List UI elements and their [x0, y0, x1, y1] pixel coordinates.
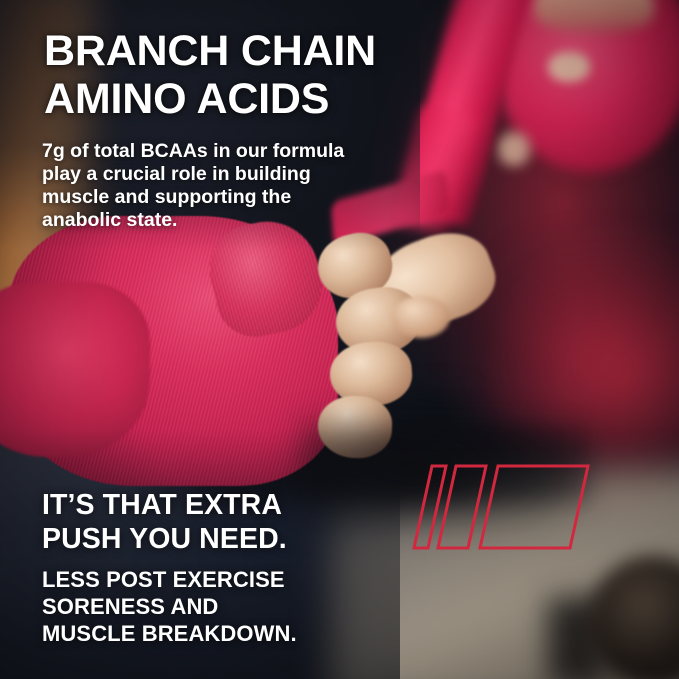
body-copy-line-1: 7g of total BCAAs in our formula [42, 140, 344, 163]
benefit-line-3: MUSCLE BREAKDOWN. [42, 620, 297, 647]
tagline: IT’S THAT EXTRA PUSH YOU NEED. [42, 488, 287, 556]
body-copy-line-2: play a crucial role in building [42, 163, 344, 186]
slanted-bars-svg [412, 462, 592, 554]
page-title: BRANCH CHAIN AMINO ACIDS [44, 27, 376, 123]
headline-line-2: AMINO ACIDS [44, 75, 376, 123]
body-copy-line-4: anabolic state. [42, 209, 344, 232]
body-copy: 7g of total BCAAs in our formula play a … [42, 140, 344, 232]
benefit-line-2: SORENESS AND [42, 593, 297, 620]
slanted-bar-2 [438, 466, 486, 548]
tagline-line-1: IT’S THAT EXTRA [42, 488, 287, 522]
body-copy-line-3: muscle and supporting the [42, 186, 344, 209]
three-slanted-bars-mark [412, 462, 592, 554]
slanted-bar-3 [480, 466, 588, 548]
ad-creative: BRANCH CHAIN AMINO ACIDS 7g of total BCA… [0, 0, 679, 679]
benefits-list: LESS POST EXERCISE SORENESS AND MUSCLE B… [42, 566, 297, 647]
headline-line-1: BRANCH CHAIN [44, 27, 376, 75]
tagline-line-2: PUSH YOU NEED. [42, 522, 287, 556]
benefit-line-1: LESS POST EXERCISE [42, 566, 297, 593]
